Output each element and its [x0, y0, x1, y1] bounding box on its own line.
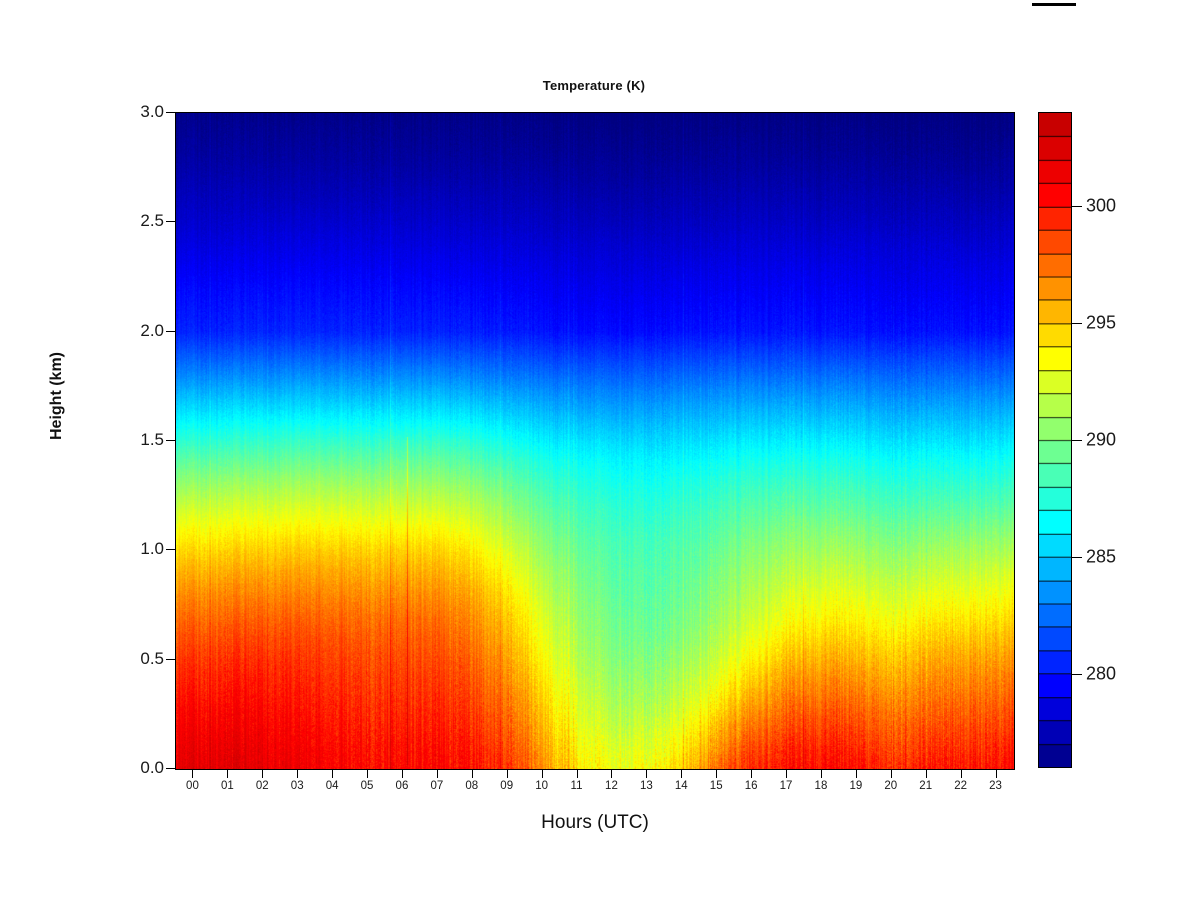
x-tick-label: 03 — [291, 780, 304, 792]
x-tick-label: 12 — [605, 780, 618, 792]
colorbar-tick-mark — [1072, 674, 1082, 675]
y-tick-mark — [166, 112, 175, 113]
x-tick-label: 09 — [500, 780, 513, 792]
x-tick-mark — [332, 769, 333, 778]
x-tick-label: 07 — [430, 780, 443, 792]
colorbar-tick-mark — [1072, 206, 1082, 207]
top-edge-artifact — [1032, 3, 1076, 6]
y-tick-label: 1.5 — [140, 430, 164, 450]
y-tick-mark — [166, 221, 175, 222]
x-tick-mark — [716, 769, 717, 778]
y-tick-label: 1.0 — [140, 539, 164, 559]
colorbar-tick-labels: 280285290295300 — [1086, 112, 1196, 768]
x-tick-mark — [926, 769, 927, 778]
x-tick-label: 14 — [675, 780, 688, 792]
x-tick-mark — [611, 769, 612, 778]
y-tick-label: 0.0 — [140, 758, 164, 778]
x-tick-mark — [996, 769, 997, 778]
colorbar-tick-label: 290 — [1086, 430, 1116, 451]
y-tick-mark — [166, 440, 175, 441]
x-tick-label: 02 — [256, 780, 269, 792]
x-tick-mark — [961, 769, 962, 778]
y-tick-label: 2.0 — [140, 321, 164, 341]
x-tick-mark — [472, 769, 473, 778]
x-tick-mark — [402, 769, 403, 778]
y-tick-mark — [166, 331, 175, 332]
x-tick-mark — [227, 769, 228, 778]
y-tick-label: 3.0 — [140, 102, 164, 122]
x-tick-label: 17 — [780, 780, 793, 792]
colorbar-ticks — [1072, 112, 1082, 768]
plot-title: Temperature (K) — [175, 78, 1013, 93]
y-tick-label: 0.5 — [140, 649, 164, 669]
x-tick-label: 11 — [571, 780, 583, 792]
x-tick-label: 18 — [815, 780, 828, 792]
x-tick-mark — [367, 769, 368, 778]
x-axis-tick-labels: 0001020304050607080910111213141516171819… — [175, 780, 1014, 800]
x-tick-mark — [437, 769, 438, 778]
x-tick-label: 21 — [919, 780, 932, 792]
x-tick-label: 15 — [710, 780, 723, 792]
y-tick-mark — [166, 549, 175, 550]
colorbar-tick-label: 295 — [1086, 312, 1116, 333]
colorbar — [1038, 112, 1072, 768]
y-tick-label: 2.5 — [140, 211, 164, 231]
x-tick-mark — [507, 769, 508, 778]
y-tick-mark — [166, 659, 175, 660]
x-tick-label: 10 — [535, 780, 548, 792]
x-tick-mark — [821, 769, 822, 778]
x-tick-label: 23 — [989, 780, 1002, 792]
x-tick-mark — [192, 769, 193, 778]
y-axis-ticks — [166, 112, 175, 768]
x-tick-label: 20 — [884, 780, 897, 792]
colorbar-tick-label: 300 — [1086, 195, 1116, 216]
x-tick-label: 06 — [396, 780, 409, 792]
heatmap-plot-area — [175, 112, 1015, 770]
x-axis-title: Hours (UTC) — [375, 812, 815, 834]
x-tick-mark — [856, 769, 857, 778]
x-tick-label: 01 — [221, 780, 234, 792]
x-tick-mark — [681, 769, 682, 778]
x-axis-ticks — [175, 769, 1014, 778]
colorbar-tick-mark — [1072, 440, 1082, 441]
x-tick-mark — [751, 769, 752, 778]
x-tick-mark — [577, 769, 578, 778]
x-tick-mark — [786, 769, 787, 778]
y-axis-tick-labels: 0.00.51.01.52.02.53.0 — [88, 112, 164, 768]
colorbar-tick-mark — [1072, 323, 1082, 324]
colorbar-tick-label: 285 — [1086, 547, 1116, 568]
x-tick-mark — [542, 769, 543, 778]
x-tick-label: 13 — [640, 780, 653, 792]
x-tick-label: 08 — [465, 780, 478, 792]
y-axis-title: Height (km) — [48, 352, 66, 440]
x-tick-mark — [297, 769, 298, 778]
x-tick-mark — [891, 769, 892, 778]
x-tick-label: 19 — [849, 780, 862, 792]
x-tick-label: 22 — [954, 780, 967, 792]
colorbar-gradient — [1038, 112, 1072, 768]
x-tick-label: 16 — [745, 780, 758, 792]
x-tick-label: 00 — [186, 780, 199, 792]
figure-canvas: Temperature (K) 0.00.51.01.52.02.53.0 00… — [0, 0, 1200, 900]
colorbar-tick-label: 280 — [1086, 664, 1116, 685]
x-tick-mark — [646, 769, 647, 778]
temperature-heatmap — [176, 113, 1014, 769]
x-tick-mark — [262, 769, 263, 778]
x-tick-label: 05 — [361, 780, 374, 792]
colorbar-tick-mark — [1072, 557, 1082, 558]
x-tick-label: 04 — [326, 780, 339, 792]
y-tick-mark — [166, 768, 175, 769]
